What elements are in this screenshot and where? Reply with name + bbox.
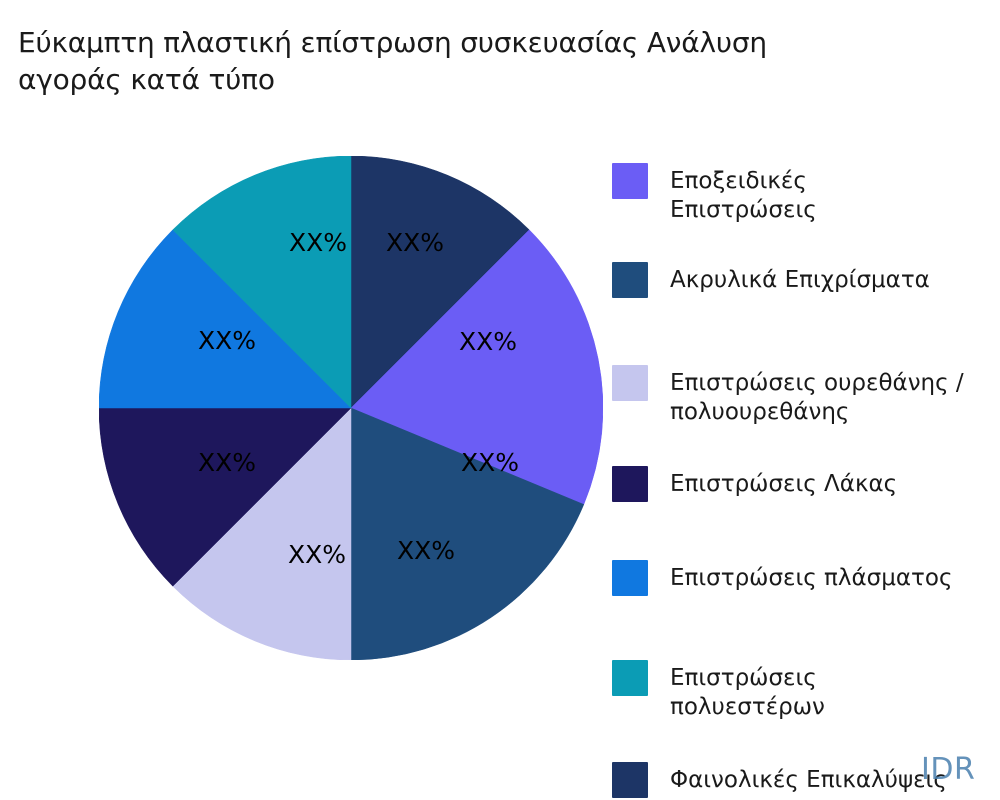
legend-swatch-icon [612,762,648,798]
pie-chart-svg: XX%XX%XX%XX%XX%XX%XX%XX% [99,156,603,660]
pie-slice-label: XX% [461,448,519,477]
legend-item-label: Επιστρώσεις Λάκας [670,470,897,499]
pie-slices-group [99,156,603,660]
legend-item[interactable]: Επιστρώσεις πολυεστέρων [612,660,1000,721]
pie-chart: XX%XX%XX%XX%XX%XX%XX%XX% [99,156,603,660]
legend-swatch-icon [612,560,648,596]
legend-item[interactable]: Επιστρώσεις πλάσματος [612,560,1000,596]
pie-slice-label: XX% [198,448,256,477]
legend: Εποξειδικές ΕπιστρώσειςΑκρυλικά Επιχρίσμ… [612,152,1000,800]
legend-swatch-icon [612,262,648,298]
legend-item-label: Επιστρώσεις πλάσματος [670,564,952,593]
pie-slice-label: XX% [289,228,347,257]
pie-slice-label: XX% [386,228,444,257]
pie-slice-label: XX% [288,540,346,569]
page-title: Εύκαμπτη πλαστική επίστρωση συσκευασίας … [18,24,988,98]
legend-item-label: Φαινολικές Επικαλύψεις [670,766,947,795]
legend-item[interactable]: Επιστρώσεις ουρεθάνης / πολυουρεθάνης [612,365,1000,426]
legend-swatch-icon [612,660,648,696]
pie-slice-label: XX% [459,327,517,356]
legend-item[interactable]: Επιστρώσεις Λάκας [612,466,1000,502]
legend-item[interactable]: Φαινολικές Επικαλύψεις [612,762,1000,798]
legend-item[interactable]: Εποξειδικές Επιστρώσεις [612,163,1000,224]
legend-swatch-icon [612,163,648,199]
legend-item-label: Ακρυλικά Επιχρίσματα [670,266,930,295]
legend-item[interactable]: Ακρυλικά Επιχρίσματα [612,262,1000,298]
legend-item-label: Εποξειδικές Επιστρώσεις [670,167,817,224]
legend-item-label: Επιστρώσεις ουρεθάνης / πολυουρεθάνης [670,369,964,426]
pie-slice-label: XX% [397,536,455,565]
legend-item-label: Επιστρώσεις πολυεστέρων [670,664,825,721]
chart-page: Εύκαμπτη πλαστική επίστρωση συσκευασίας … [0,0,1000,800]
pie-slice-label: XX% [198,326,256,355]
legend-swatch-icon [612,466,648,502]
legend-swatch-icon [612,365,648,401]
